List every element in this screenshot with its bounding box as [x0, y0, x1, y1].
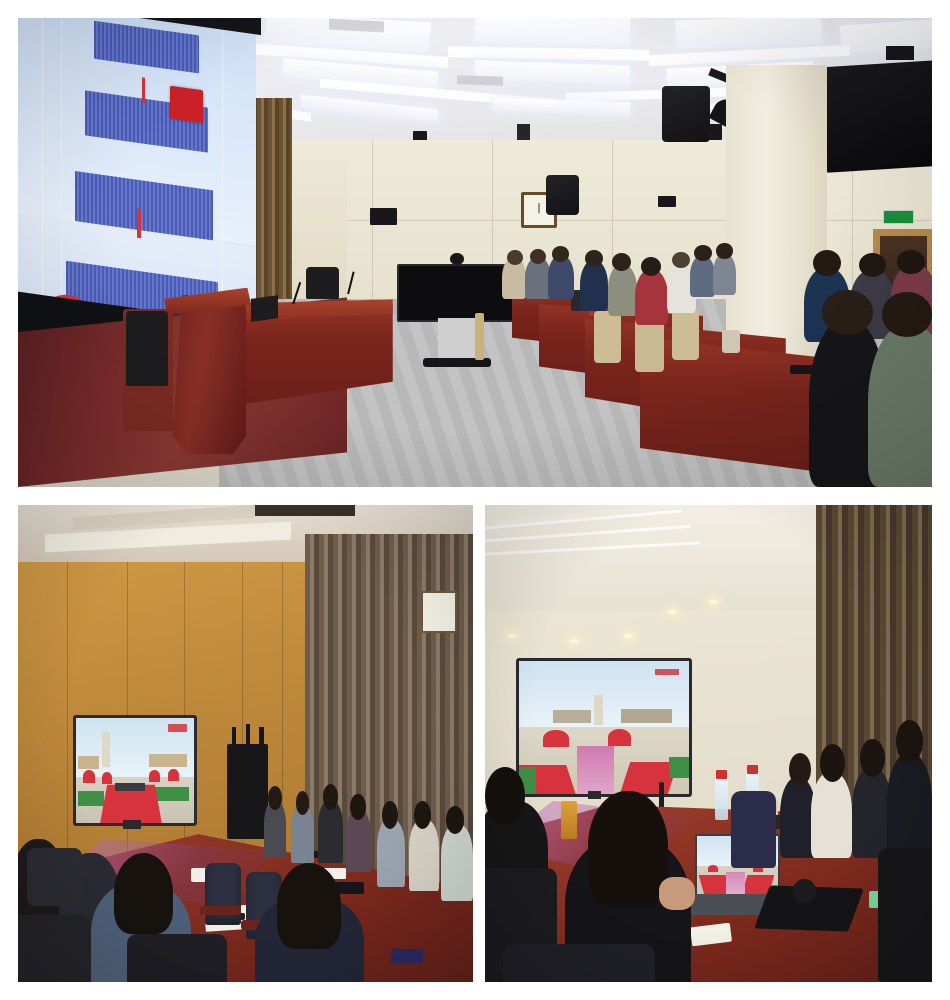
audience-chair	[594, 311, 621, 363]
head-table-chair	[306, 267, 339, 300]
wall-speaker-icon	[662, 86, 710, 142]
antenna-icon	[232, 727, 237, 746]
attendee	[409, 820, 439, 892]
attendee	[608, 264, 637, 316]
bottle-cap	[747, 765, 758, 775]
foreground-chair-back	[27, 848, 82, 905]
attendee-head	[859, 253, 886, 277]
attendee-head	[268, 786, 282, 810]
downlight-icon	[570, 639, 579, 643]
attendee	[580, 260, 607, 312]
attendee-head	[507, 250, 523, 265]
attendee	[887, 753, 932, 858]
wall-mounted-tv	[516, 658, 692, 798]
downlight-icon	[668, 610, 677, 614]
attendee	[690, 255, 716, 297]
wall-monitor-small	[658, 196, 676, 206]
hvac-vent	[457, 75, 503, 85]
display-ceiling-mount	[886, 46, 913, 60]
tv-wall-mount	[588, 791, 601, 799]
broadcast-watermark-logo	[170, 86, 203, 123]
auditorium-scene	[18, 18, 932, 487]
attendee-red-top	[635, 269, 668, 325]
meeting-room-scene	[18, 505, 473, 982]
attendee-head	[860, 739, 885, 777]
equipment-cabinet	[227, 744, 268, 839]
podium-chair-seat	[126, 311, 168, 386]
foreground-chair	[18, 915, 91, 982]
photo-large-auditorium	[18, 18, 932, 487]
executive-chair	[731, 791, 776, 867]
attendee	[441, 825, 473, 901]
downlight-icon	[507, 634, 516, 638]
chair-armrest	[200, 906, 241, 916]
attendee-foreground-green-shirt	[868, 323, 932, 487]
display-stand-column	[438, 318, 475, 360]
conference-room-scene	[485, 505, 932, 982]
wall-control-panel	[370, 208, 397, 225]
attendee-head	[896, 720, 923, 763]
building-on-screen	[149, 754, 187, 768]
attendee-head	[822, 290, 872, 335]
hand	[659, 877, 695, 910]
attendee-head	[585, 250, 603, 267]
attendee	[852, 767, 892, 858]
attendee-head	[897, 250, 924, 273]
attendee-head	[820, 744, 845, 782]
attendee-head	[350, 794, 365, 820]
monument-on-screen	[102, 732, 110, 768]
attendee-head	[552, 246, 569, 262]
attendee-head	[813, 250, 840, 276]
attendee-head	[114, 853, 173, 934]
beverage-bottle	[561, 801, 577, 839]
antenna-icon	[259, 727, 264, 746]
attendee-head	[485, 767, 525, 824]
exit-sign-icon[interactable]	[883, 210, 914, 224]
executive-chair	[878, 848, 932, 982]
attendee	[377, 820, 404, 887]
travel-mug	[722, 330, 740, 353]
attendee-head	[716, 243, 732, 258]
conference-chair	[205, 863, 241, 925]
computer-mouse[interactable]	[793, 879, 815, 903]
wall-mounted-tv	[73, 715, 197, 826]
broadcast-watermark-logo	[168, 724, 187, 731]
antenna-icon	[246, 724, 251, 745]
photo-laptop-livestream-room	[485, 505, 932, 982]
wall-input-plate	[708, 124, 722, 140]
wall-speaker-icon	[546, 175, 579, 215]
attendee	[318, 801, 343, 863]
broadcast-watermark-logo	[655, 669, 679, 676]
attendee-head	[882, 292, 932, 337]
water-bottle	[715, 777, 728, 820]
attendee-head	[296, 791, 310, 815]
tv-wall-mount	[123, 820, 141, 830]
photo-collage: Wide auditorium with a large LED video w…	[0, 0, 950, 1000]
right-wall-large-display	[827, 60, 932, 173]
attendee-head	[588, 791, 668, 905]
foreground-chair	[503, 944, 655, 982]
attendee-head	[277, 863, 341, 949]
downlight-icon	[624, 634, 633, 638]
attendee-white-top	[811, 772, 851, 858]
mobile-phone	[391, 949, 423, 963]
wall-notice-frame	[421, 591, 457, 633]
foreground-chair	[127, 934, 227, 982]
photo-small-meeting-room	[18, 505, 473, 982]
head-table-laptop	[251, 295, 278, 322]
attendee-head	[672, 252, 690, 269]
audience-chair	[672, 309, 699, 361]
building-on-screen	[78, 756, 99, 770]
display-cable	[475, 313, 484, 360]
attendee	[713, 253, 737, 295]
attendee-head	[446, 806, 464, 835]
bottle-cap	[716, 770, 727, 780]
